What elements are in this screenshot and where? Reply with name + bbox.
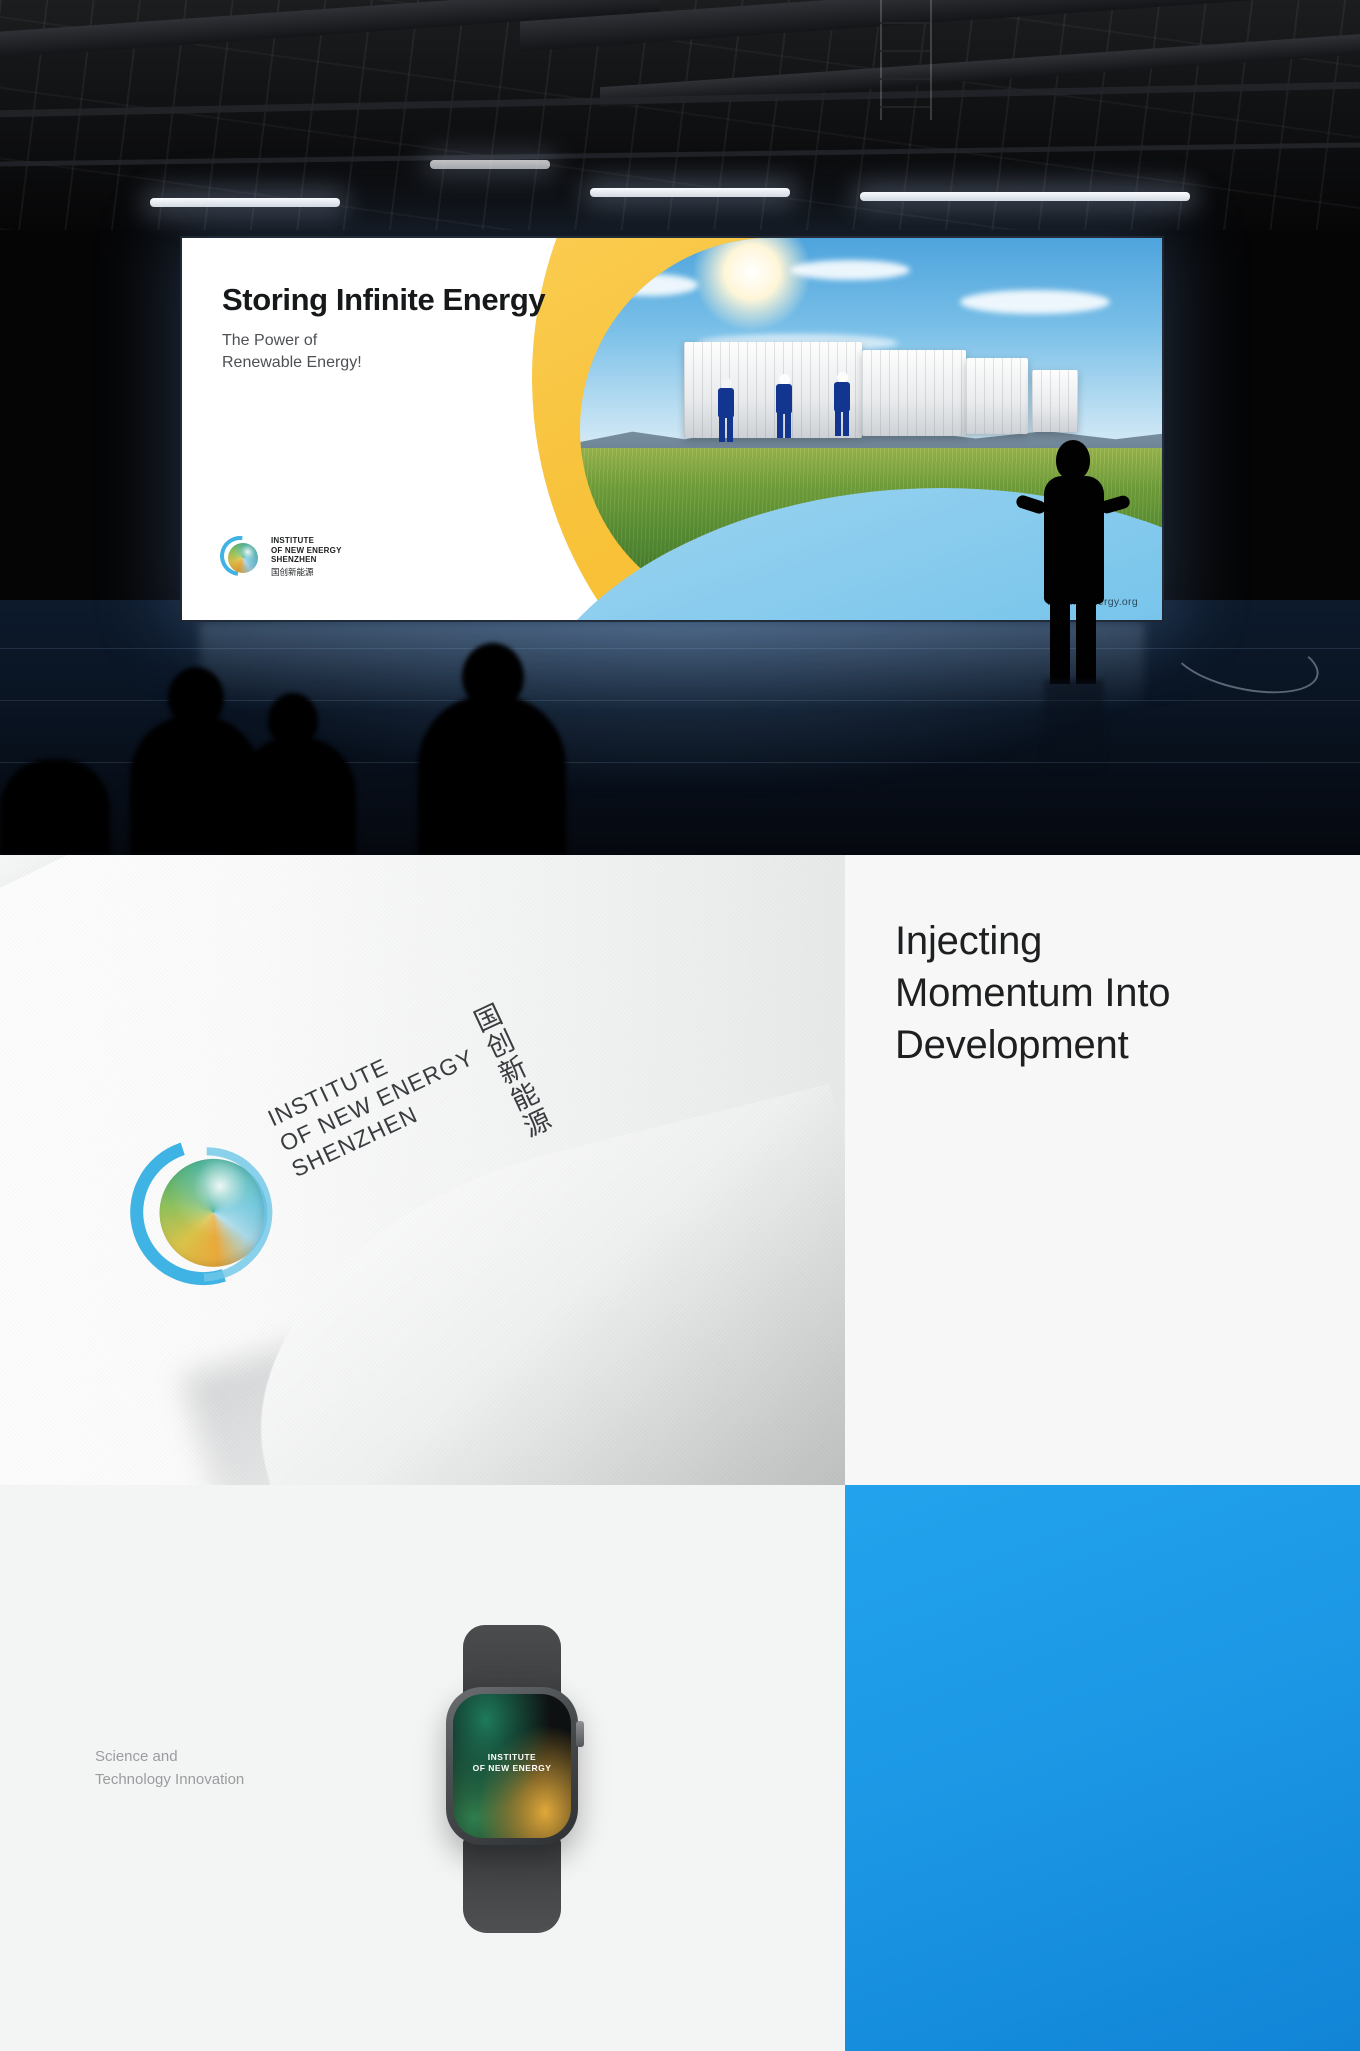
- panel-headline: Injecting Momentum Into Development: [845, 855, 1360, 1485]
- slide-subtitle: The Power of Renewable Energy!: [222, 330, 362, 374]
- presenter-head: [1056, 440, 1090, 480]
- led-screen-slide: Storing Infinite Energy The Power of Ren…: [182, 238, 1162, 620]
- ceiling-ladder: [930, 0, 932, 120]
- watch-face-text: INSTITUTE OF NEW ENERGY: [453, 1752, 571, 1775]
- cloud: [602, 274, 698, 296]
- slide-logo-text: INSTITUTE OF NEW ENERGY SHENZHEN 国创新能源: [271, 536, 342, 578]
- logo-line-3: SHENZHEN: [271, 555, 342, 565]
- battery-container: [966, 358, 1028, 434]
- ceiling-light-tube: [860, 192, 1190, 201]
- brand-swoosh-icon: [212, 528, 268, 584]
- ceiling-light-tube: [430, 160, 550, 169]
- watch-caption: Science and Technology Innovation: [95, 1745, 244, 1792]
- brand-presentation-board: Storing Infinite Energy The Power of Ren…: [0, 0, 1360, 2051]
- panel-auditorium-stage: Storing Infinite Energy The Power of Ren…: [0, 0, 1360, 855]
- battery-container: [1032, 370, 1078, 432]
- ladder-rung: [880, 50, 930, 52]
- audience-silhouette: [236, 737, 356, 855]
- cloud: [790, 260, 910, 280]
- ceiling-light-tube: [590, 188, 790, 197]
- smartwatch-mockup: INSTITUTE OF NEW ENERGY: [430, 1625, 595, 1925]
- screen-reflection: [200, 622, 1144, 714]
- ceiling-light-tube: [150, 198, 340, 207]
- audience-silhouette: [418, 695, 566, 855]
- watch-face-line-1: INSTITUTE: [453, 1752, 571, 1763]
- watch-screen[interactable]: INSTITUTE OF NEW ENERGY: [453, 1694, 571, 1838]
- cloud: [960, 290, 1110, 314]
- worker-legs: [719, 416, 733, 442]
- worker-body: [718, 388, 734, 418]
- audience-head: [268, 693, 318, 749]
- presenter-body: [1044, 476, 1104, 604]
- logo-line-2: OF NEW ENERGY: [271, 546, 342, 556]
- worker-body: [776, 384, 792, 414]
- worker-body: [834, 382, 850, 412]
- presenter-reflection: [1044, 680, 1104, 776]
- battery-container: [862, 350, 966, 436]
- presenter-silhouette: [1030, 440, 1116, 680]
- worker-legs: [777, 412, 791, 438]
- headline-text: Injecting Momentum Into Development: [895, 915, 1170, 1071]
- watch-face-line-2: OF NEW ENERGY: [453, 1763, 571, 1774]
- logo-line-1: INSTITUTE: [271, 536, 342, 546]
- logo-chinese: 国创新能源: [271, 566, 342, 578]
- watch-strap-bottom: [463, 1837, 561, 1933]
- audience-head: [462, 643, 524, 711]
- brand-mark-icon: [220, 536, 262, 578]
- worker-legs: [835, 410, 849, 436]
- ladder-rung: [880, 22, 930, 24]
- ladder-rung: [880, 78, 930, 80]
- watch-case: INSTITUTE OF NEW ENERGY: [446, 1687, 578, 1845]
- audience-silhouette: [0, 759, 110, 855]
- slide-logo-lockup: INSTITUTE OF NEW ENERGY SHENZHEN 国创新能源: [220, 536, 342, 578]
- presenter-legs: [1050, 598, 1096, 684]
- ceiling-ladder: [880, 0, 882, 120]
- ladder-rung: [880, 106, 930, 108]
- panel-notebook-mockup: INSTITUTE OF NEW ENERGY 国创新能源: [845, 1485, 1360, 2051]
- watch-crown[interactable]: [576, 1721, 584, 1747]
- audience-head: [168, 667, 224, 729]
- slide-title: Storing Infinite Energy: [222, 282, 545, 318]
